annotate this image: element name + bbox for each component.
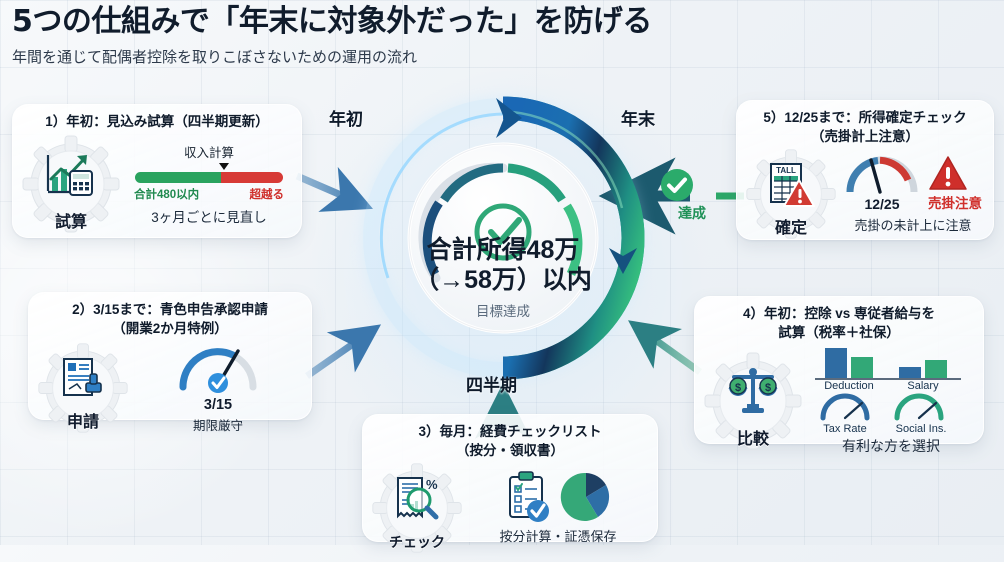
achieved-badge: 達成 — [660, 168, 724, 223]
header: 5つの仕組みで「年末に対象外だった」を防げる 年間を通じて配偶者控除を取りこぼさ… — [12, 4, 652, 67]
card-4-bar-chart: Deduction Salary — [811, 346, 971, 390]
card-2-note: 期限厳守 — [193, 415, 243, 434]
achieved-label: 達成 — [660, 203, 724, 223]
card-1-progress-bar — [135, 172, 283, 183]
clipboard-check-icon — [504, 471, 552, 523]
card-1-note: 3ヶ月ごとに見直し — [151, 206, 267, 226]
svg-text:%: % — [426, 477, 438, 492]
card-5-icon-label: 確定 — [745, 214, 837, 238]
page-subtitle: 年間を通じて配偶者控除を取りこぼさないための運用の流れ — [12, 46, 652, 67]
card-4-gauges: Tax Rate Social Ins. — [811, 392, 971, 434]
card-4-icon-label: 比較 — [703, 425, 803, 449]
card-1-detail: 収入計算 合計480以内 超越る 3ヶ月ごとに見直し — [125, 142, 293, 226]
ring-label-bottom: 四半期 — [466, 371, 517, 396]
card-4-title: 4）年初：控除 vs 専従者給与を — [695, 297, 983, 324]
card-4-note: 有利な方を選択 — [842, 436, 940, 456]
card-3-title: 3）毎月：経費チェックリスト — [363, 415, 657, 442]
card-1-title: 1）年初：見込み試算（四半期更新） — [13, 105, 301, 134]
ring-label-top-left: 年初 — [329, 105, 363, 130]
card-1[interactable]: 1）年初：見込み試算（四半期更新） — [12, 104, 302, 238]
card-5-note: 売掛の未計上に注意 — [854, 215, 971, 234]
card-2-detail: 3/15 期限厳守 — [133, 343, 303, 434]
page-title: 5つの仕組みで「年末に対象外だった」を防げる — [12, 4, 652, 40]
card-5-icon-badge: TALL 確定 — [745, 148, 837, 240]
svg-text:Salary: Salary — [907, 380, 939, 392]
svg-text:$: $ — [735, 382, 741, 394]
card-1-icon-label: 試算 — [21, 208, 121, 232]
card-5-title: 5）12/25まで：所得確定チェック — [737, 101, 993, 128]
card-1-bar-ng-label: 超越る — [250, 186, 285, 202]
svg-text:$: $ — [765, 382, 771, 394]
card-1-gauge-label: 収入計算 — [184, 142, 234, 161]
card-2-icon-badge: 申請 — [37, 342, 129, 434]
card-1-marker-icon — [219, 163, 229, 170]
balance-scale-money-icon: $ $ — [726, 366, 780, 416]
card-4-icon-badge: $ $ 比較 — [703, 351, 803, 451]
card-3-icon-label: チェック — [371, 532, 463, 552]
pie-chart-icon — [560, 471, 612, 523]
card-3-detail: 按分計算・証憑保存 — [467, 471, 649, 545]
document-stamp-icon — [59, 357, 107, 401]
chart-calculator-icon — [45, 151, 97, 197]
card-2[interactable]: 2）3/15まで：青色申告承認申請 （開業2か月特例） — [28, 292, 312, 420]
card-5-detail: 12/25 売掛注意 売掛の未計上に注意 — [841, 154, 985, 234]
card-5-gauge — [844, 154, 920, 198]
check-circle-filled-icon — [660, 168, 694, 202]
card-5-title2: （売掛計上注意） — [737, 128, 993, 149]
card-5-warn-label: 売掛注意 — [928, 192, 982, 212]
spreadsheet-warning-icon: TALL — [766, 162, 816, 208]
card-3-note: 按分計算・証憑保存 — [499, 526, 616, 545]
card-4-detail: Deduction Salary Tax Rate Social Ins. 有利… — [807, 346, 975, 456]
warning-triangle-icon — [928, 155, 968, 193]
svg-text:Social Ins.: Social Ins. — [896, 423, 947, 435]
card-2-icon-label: 申請 — [37, 408, 129, 432]
card-3-icon-badge: % チェック — [371, 462, 463, 554]
receipt-magnifier-percent-icon: % — [392, 476, 442, 522]
center-ring: 合計所得48万 （→58万）以内 目標達成 — [336, 88, 670, 388]
card-5-gauge-value: 12/25 — [844, 196, 920, 212]
card-4-title2: 試算（税率＋社保） — [695, 324, 983, 345]
svg-text:Tax Rate: Tax Rate — [823, 423, 866, 435]
card-3[interactable]: 3）毎月：経費チェックリスト （按分・領収書） — [362, 414, 658, 542]
card-1-icon-badge: 試算 — [21, 134, 121, 234]
card-2-title2: （開業2か月特例） — [29, 320, 311, 341]
ring-label-top-right: 年末 — [621, 105, 655, 130]
card-1-bar-ok-label: 合計480以内 — [134, 186, 199, 202]
card-2-title: 2）3/15まで：青色申告承認申請 — [29, 293, 311, 320]
card-2-value: 3/15 — [204, 397, 232, 413]
card-3-title2: （按分・領収書） — [363, 442, 657, 463]
gauge-check-icon — [175, 343, 261, 395]
card-5[interactable]: 5）12/25まで：所得確定チェック （売掛計上注意） TALL — [736, 100, 994, 240]
svg-text:Deduction: Deduction — [824, 380, 874, 392]
card-4[interactable]: 4）年初：控除 vs 専従者給与を 試算（税率＋社保） — [694, 296, 984, 444]
card-5-icon-inner-text: TALL — [776, 166, 796, 175]
